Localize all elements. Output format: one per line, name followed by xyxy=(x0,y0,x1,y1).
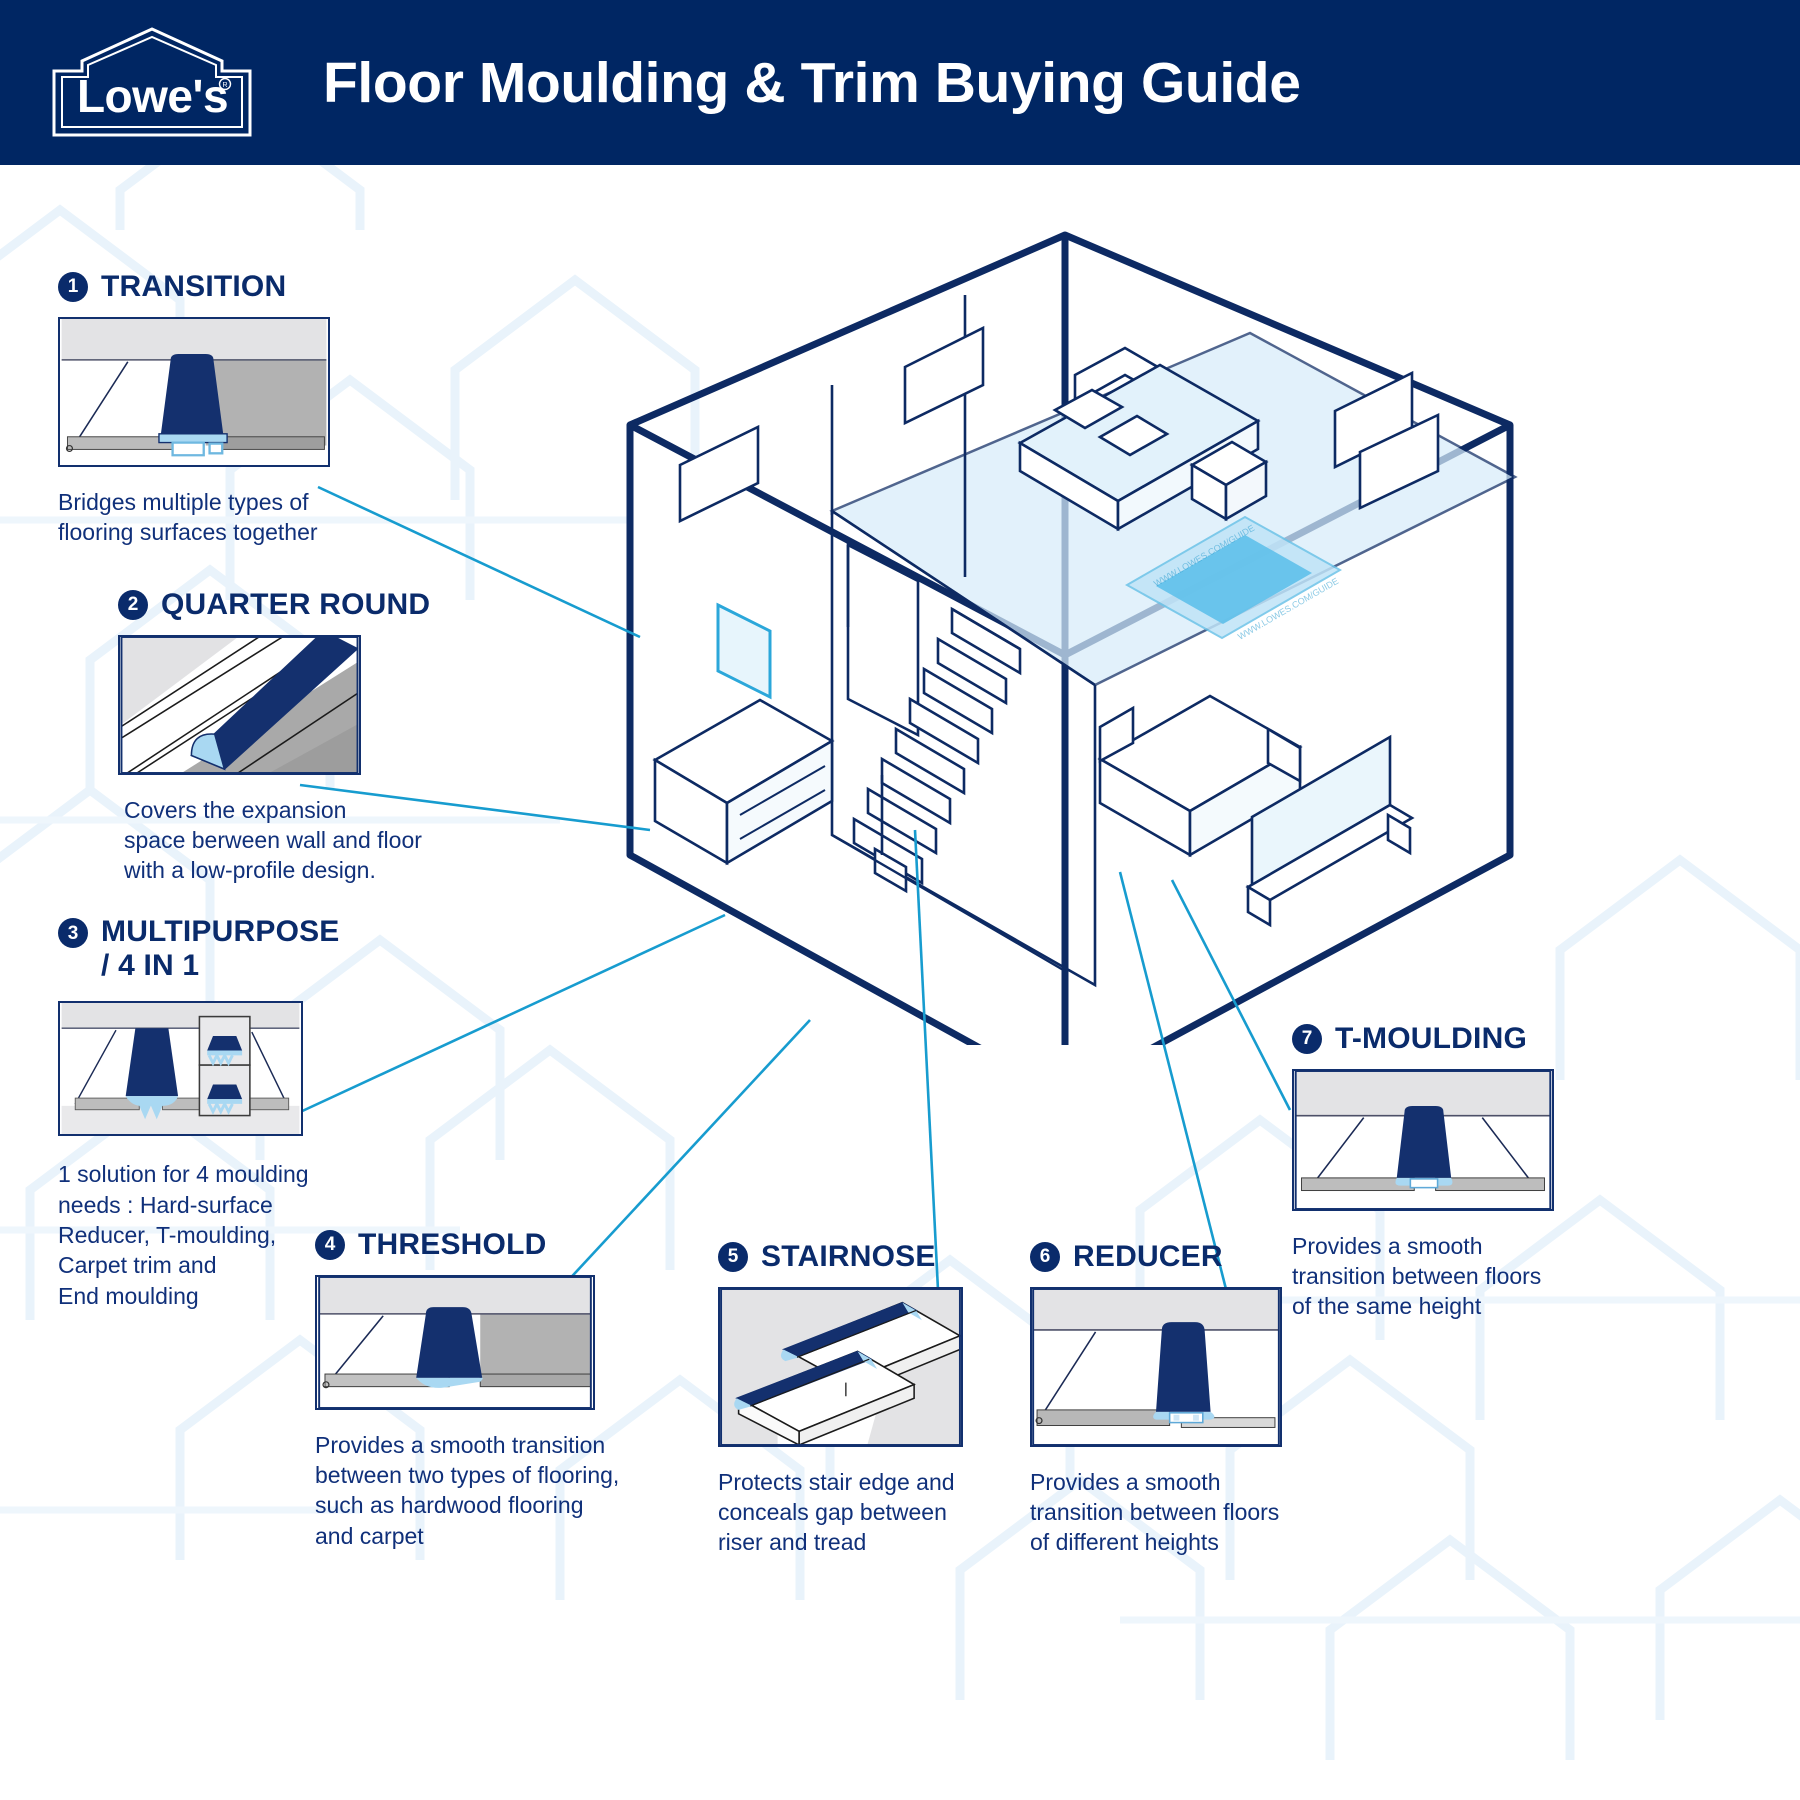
registered-trademark-icon: R xyxy=(218,77,232,91)
threshold-profile-figure xyxy=(315,1275,595,1410)
multipurpose-profile-figure xyxy=(58,1001,303,1136)
isometric-cutaway-house: WWW.LOWES.COM/GUIDE WWW.LOWES.COM/GUIDE xyxy=(600,215,1540,1045)
callout-caption-2: Covers the expansion space berween wall … xyxy=(124,795,458,886)
callout-head-4: 4 THRESHOLD xyxy=(315,1228,655,1262)
page-title: Floor Moulding & Trim Buying Guide xyxy=(323,50,1301,116)
svg-text:R: R xyxy=(222,82,227,89)
number-badge-7: 7 xyxy=(1292,1024,1322,1054)
number-badge-6: 6 xyxy=(1030,1242,1060,1272)
callout-title-6: REDUCER xyxy=(1073,1240,1223,1274)
callout-t-moulding: 7 T-MOULDING Provides a smooth transitio… xyxy=(1292,1022,1552,1322)
callout-caption-5: Protects stair edge and conceals gap bet… xyxy=(718,1467,968,1558)
callout-reducer: 6 REDUCER Provides a smooth transition b… xyxy=(1030,1240,1290,1558)
number-badge-1: 1 xyxy=(58,272,88,302)
callout-caption-4: Provides a smooth transition between two… xyxy=(315,1430,655,1551)
number-badge-3: 3 xyxy=(58,918,88,948)
callout-stairnose: 5 STAIRNOSE xyxy=(718,1240,968,1558)
t-moulding-profile-figure xyxy=(1292,1069,1554,1211)
number-badge-2: 2 xyxy=(118,590,148,620)
callout-title-4: THRESHOLD xyxy=(358,1228,546,1262)
lowes-logo: Lowe's R xyxy=(50,27,255,139)
callout-quarter-round: 2 QUARTER ROUND Covers the expansion sp xyxy=(118,588,458,886)
callout-caption-7: Provides a smooth transition between flo… xyxy=(1292,1231,1552,1322)
callout-title-1: TRANSITION xyxy=(101,270,286,304)
callout-threshold: 4 THRESHOLD Provides a smooth transition… xyxy=(315,1228,655,1551)
callout-head-6: 6 REDUCER xyxy=(1030,1240,1290,1274)
callout-title-5: STAIRNOSE xyxy=(761,1240,936,1274)
quarter-round-figure xyxy=(118,635,361,775)
transition-profile-figure xyxy=(58,317,330,467)
callout-head-7: 7 T-MOULDING xyxy=(1292,1022,1552,1056)
stairnose-figure xyxy=(718,1287,963,1447)
number-badge-5: 5 xyxy=(718,1242,748,1272)
callout-title-7: T-MOULDING xyxy=(1335,1022,1527,1056)
callout-caption-6: Provides a smooth transition between flo… xyxy=(1030,1467,1290,1558)
callout-title-2: QUARTER ROUND xyxy=(161,588,430,622)
callout-head-2: 2 QUARTER ROUND xyxy=(118,588,458,622)
callout-transition: 1 TRANSITION Bridges multiple types of f… xyxy=(58,270,388,547)
reducer-profile-figure xyxy=(1030,1287,1282,1447)
callout-head-1: 1 TRANSITION xyxy=(58,270,388,304)
callout-head-5: 5 STAIRNOSE xyxy=(718,1240,968,1274)
callout-head-3: 3 MULTIPURPOSE / 4 IN 1 xyxy=(58,915,378,982)
callout-title-3: MULTIPURPOSE / 4 IN 1 xyxy=(101,915,340,982)
page-header: Lowe's R Floor Moulding & Trim Buying Gu… xyxy=(0,0,1800,165)
callout-caption-1: Bridges multiple types of flooring surfa… xyxy=(58,487,388,548)
infographic-page: Lowe's R Floor Moulding & Trim Buying Gu… xyxy=(0,0,1800,1800)
number-badge-4: 4 xyxy=(315,1230,345,1260)
